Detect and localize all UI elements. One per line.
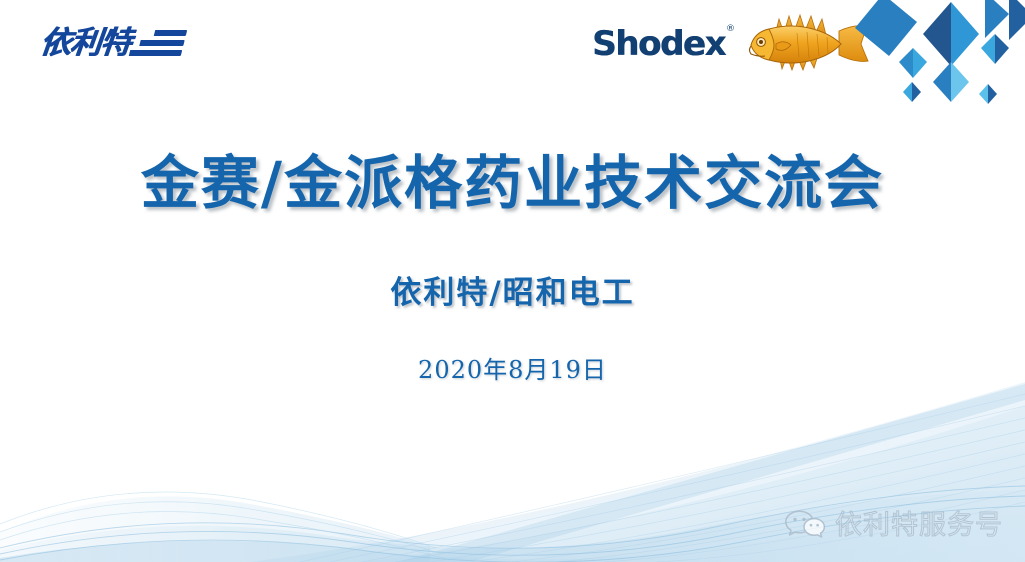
watermark-text: 依利特服务号 <box>835 512 1003 539</box>
slide-body: 金赛/金派格药业技术交流会 依利特/昭和电工 2020年8月19日 <box>0 92 1025 472</box>
presentation-slide: 依利特 Shodex® <box>0 0 1025 562</box>
registered-trademark-icon: ® <box>726 25 735 34</box>
elite-logo-text: 依利特 <box>38 28 131 59</box>
slide-header: 依利特 Shodex® <box>0 0 1025 92</box>
elite-logo-bars-icon <box>128 28 187 58</box>
slide-subtitle: 依利特/昭和电工 <box>0 217 1025 312</box>
wechat-icon <box>784 508 826 542</box>
elite-logo: 依利特 <box>40 21 184 65</box>
wechat-watermark: 依利特服务号 <box>784 508 1003 542</box>
shodex-wordmark-text: Shodex <box>592 24 725 64</box>
shodex-wordmark: Shodex® <box>592 27 725 61</box>
shodex-logo: Shodex® <box>592 18 875 70</box>
slide-title: 金赛/金派格药业技术交流会 <box>0 92 1025 217</box>
slide-date: 2020年8月19日 <box>0 312 1025 385</box>
